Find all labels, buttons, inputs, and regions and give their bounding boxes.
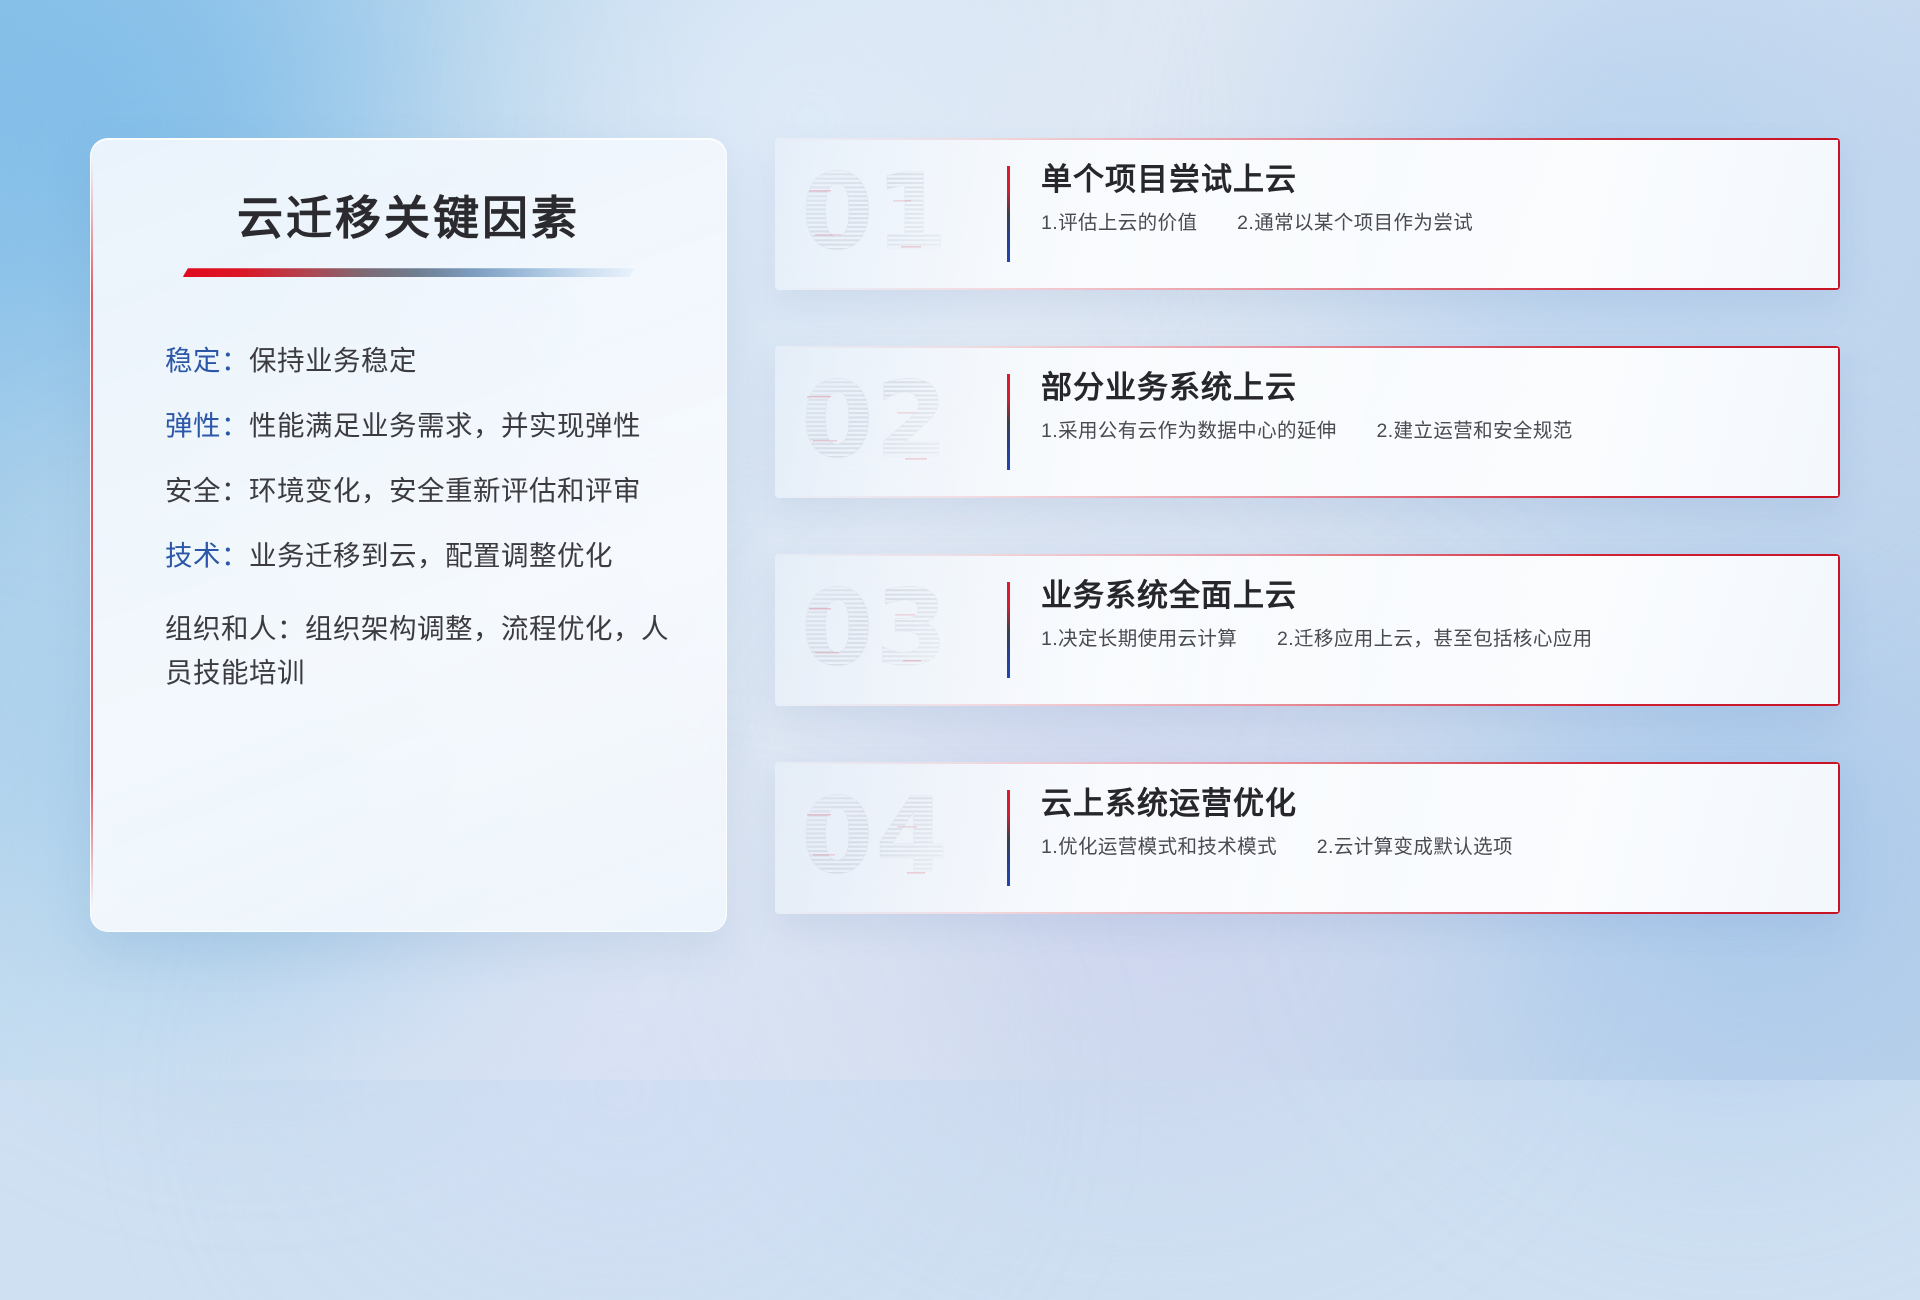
step-divider-bar	[1007, 166, 1010, 262]
key-factors-list: 稳定：保持业务稳定 弹性：性能满足业务需求，并实现弹性 安全：环境变化，安全重新…	[137, 347, 680, 696]
step-card-04[interactable]: 04 04 云上系统运营优化 1.优化运营模式和技术模式 2.云计算变成默认选项	[775, 762, 1840, 914]
step-title: 单个项目尝试上云	[1041, 162, 1800, 198]
factor-label: 安全：	[165, 475, 249, 506]
list-item: 稳定：保持业务稳定	[165, 347, 680, 376]
step-description: 1.评估上云的价值 2.通常以某个项目作为尝试	[1041, 212, 1800, 235]
step-card-02[interactable]: 02 02 部分业务系统上云 1.采用公有云作为数据中心的延伸 2.建立运营和安…	[775, 346, 1840, 498]
migration-steps-list: 01 01 单个项目尝试上云 1.评估上云的价值 2.通常以某个项目作为尝试	[775, 138, 1840, 914]
list-item: 组织和人：组织架构调整，流程优化，人员技能培训	[165, 607, 680, 696]
factor-label: 稳定：	[165, 345, 249, 376]
background-glow-bottom	[120, 880, 1120, 1300]
step-description: 1.采用公有云作为数据中心的延伸 2.建立运营和安全规范	[1041, 420, 1800, 443]
factor-value: 保持业务稳定	[249, 345, 417, 376]
step-title: 云上系统运营优化	[1041, 786, 1800, 822]
key-factors-panel: 云迁移关键因素 稳定：保持业务稳定 弹性：性能满足业务需求，并实现弹性 安全：环…	[90, 138, 727, 932]
factor-label: 技术：	[165, 540, 249, 571]
step-card-03[interactable]: 03 03 业务系统全面上云 1.决定长期使用云计算 2.迁移应用上云，甚至包括…	[775, 554, 1840, 706]
list-item: 技术：业务迁移到云，配置调整优化	[165, 542, 680, 571]
list-item: 弹性：性能满足业务需求，并实现弹性	[165, 412, 680, 441]
step-number-01-icon: 01 01	[797, 160, 987, 268]
step-number-03-icon: 03 03	[797, 576, 987, 684]
step-title: 部分业务系统上云	[1041, 370, 1800, 406]
svg-text:01: 01	[801, 160, 950, 268]
page-title: 云迁移关键因素	[137, 191, 680, 246]
svg-text:04: 04	[801, 784, 950, 892]
step-card-01[interactable]: 01 01 单个项目尝试上云 1.评估上云的价值 2.通常以某个项目作为尝试	[775, 138, 1840, 290]
title-underline-accent	[183, 268, 635, 277]
factor-label: 组织和人：	[165, 613, 305, 644]
factor-value: 性能满足业务需求，并实现弹性	[249, 410, 641, 441]
step-description: 1.决定长期使用云计算 2.迁移应用上云，甚至包括核心应用	[1041, 628, 1800, 651]
factor-label: 弹性：	[165, 410, 249, 441]
factor-value: 业务迁移到云，配置调整优化	[249, 540, 613, 571]
step-title: 业务系统全面上云	[1041, 578, 1800, 614]
step-divider-bar	[1007, 790, 1010, 886]
step-description: 1.优化运营模式和技术模式 2.云计算变成默认选项	[1041, 836, 1800, 859]
factor-value: 环境变化，安全重新评估和评审	[249, 475, 641, 506]
step-number-04-icon: 04 04	[797, 784, 987, 892]
list-item: 安全：环境变化，安全重新评估和评审	[165, 477, 680, 506]
step-number-02-icon: 02 02	[797, 368, 987, 476]
step-divider-bar	[1007, 582, 1010, 678]
svg-text:03: 03	[801, 576, 950, 684]
svg-text:02: 02	[801, 368, 950, 476]
step-divider-bar	[1007, 374, 1010, 470]
